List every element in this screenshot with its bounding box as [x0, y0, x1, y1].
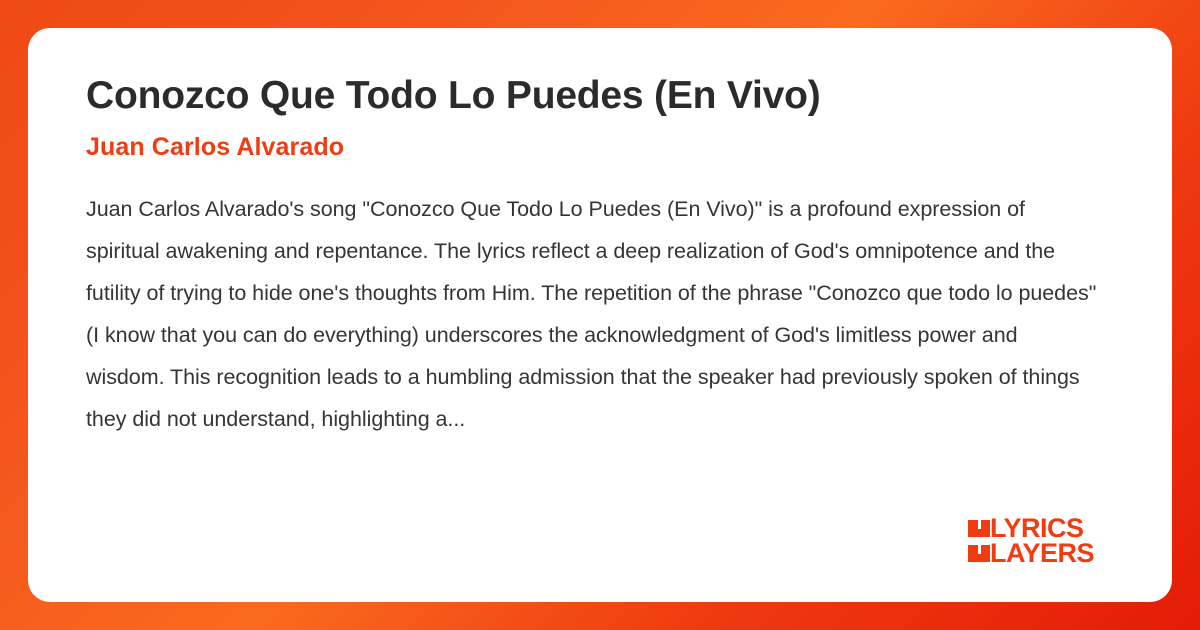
- content-card: Conozco Que Todo Lo Puedes (En Vivo) Jua…: [28, 28, 1172, 602]
- artist-name: Juan Carlos Alvarado: [86, 132, 1114, 162]
- logo-text-layers: LAYERS: [990, 540, 1094, 566]
- page-title: Conozco Que Todo Lo Puedes (En Vivo): [86, 72, 1114, 120]
- song-summary: Juan Carlos Alvarado's song "Conozco Que…: [86, 188, 1098, 440]
- logo-line-layers: LAYERS: [968, 540, 1118, 566]
- lyrics-layers-logo: LYRICS LAYERS: [968, 516, 1118, 566]
- logo-text-lyrics: LYRICS: [990, 516, 1084, 540]
- logo-line-lyrics: LYRICS: [968, 516, 1118, 540]
- share-card-canvas: Conozco Que Todo Lo Puedes (En Vivo) Jua…: [0, 0, 1200, 630]
